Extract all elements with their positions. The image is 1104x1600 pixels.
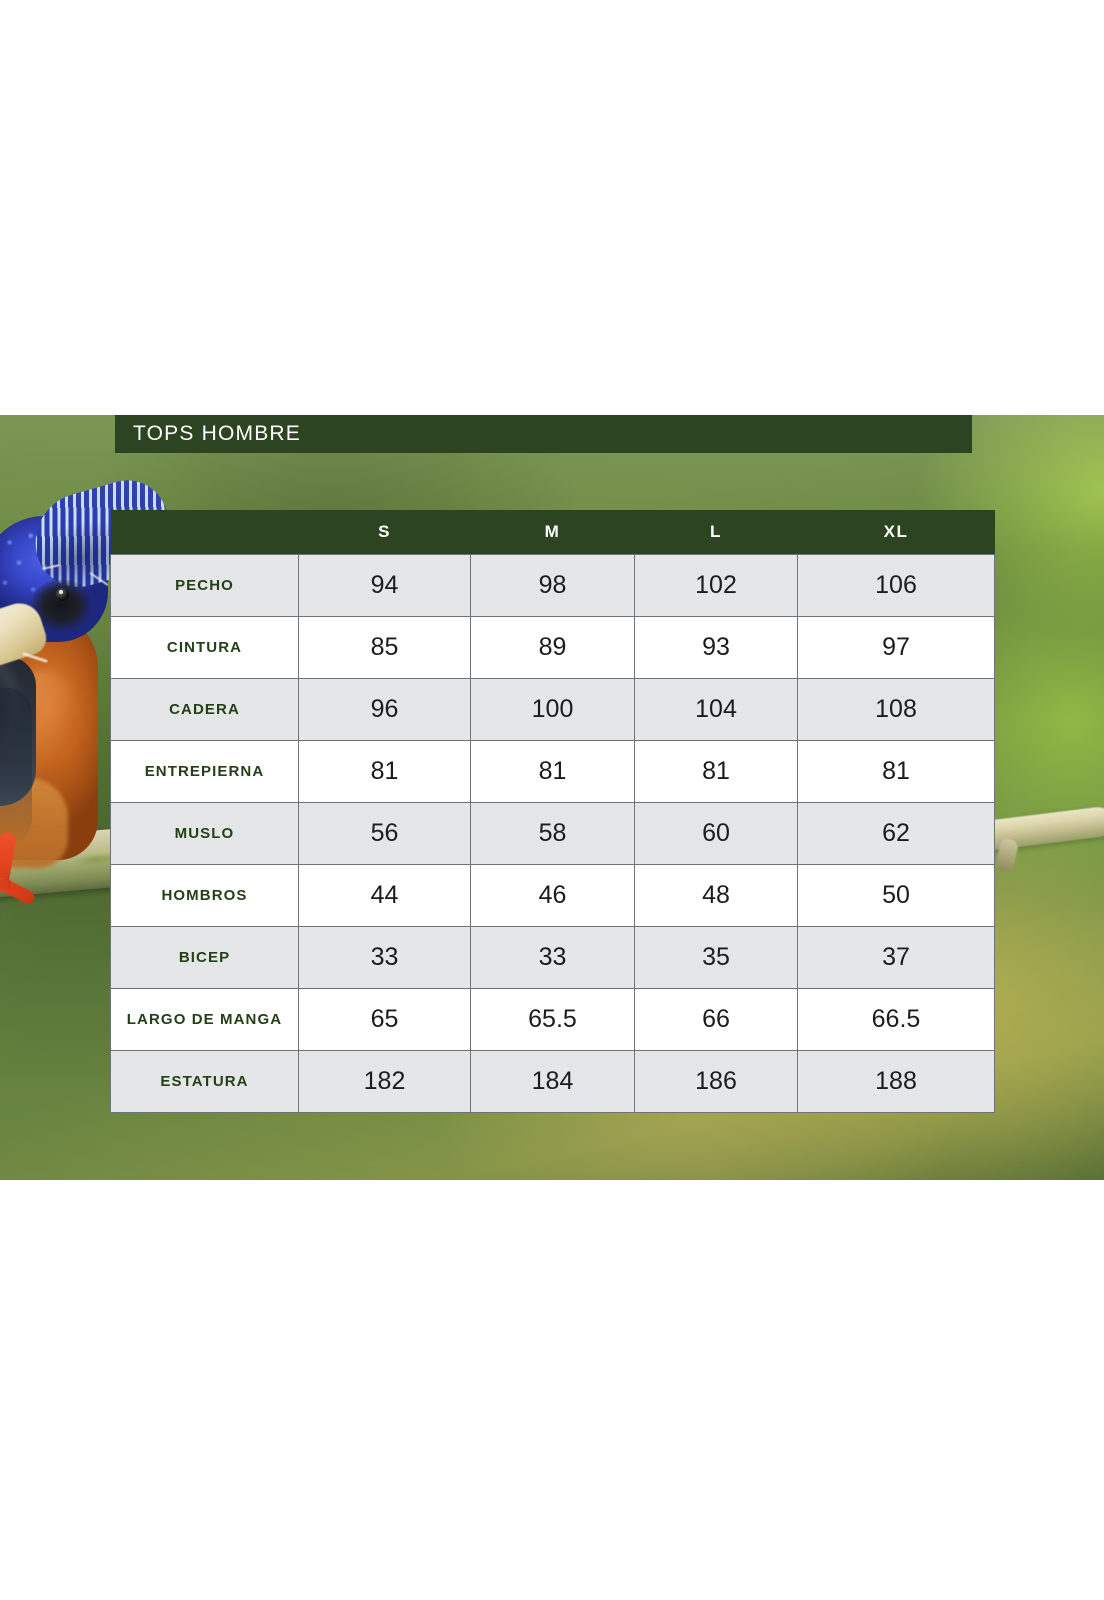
cell-pecho-m: 98 <box>471 554 635 616</box>
cell-estatura-xl: 188 <box>798 1050 995 1112</box>
column-header-l: L <box>635 510 798 554</box>
cell-muslo-l: 60 <box>635 802 798 864</box>
cell-cadera-l: 104 <box>635 678 798 740</box>
cell-cintura-xl: 97 <box>798 616 995 678</box>
row-label-muslo: MUSLO <box>111 802 299 864</box>
cell-muslo-s: 56 <box>299 802 471 864</box>
cell-cadera-m: 100 <box>471 678 635 740</box>
row-label-entrepierna: ENTREPIERNA <box>111 740 299 802</box>
cell-largo-de-manga-l: 66 <box>635 988 798 1050</box>
cell-muslo-xl: 62 <box>798 802 995 864</box>
row-label-hombros: HOMBROS <box>111 864 299 926</box>
column-header-s: S <box>299 510 471 554</box>
cell-entrepierna-l: 81 <box>635 740 798 802</box>
row-label-cadera: CADERA <box>111 678 299 740</box>
row-label-cintura: CINTURA <box>111 616 299 678</box>
cell-estatura-l: 186 <box>635 1050 798 1112</box>
cell-largo-de-manga-s: 65 <box>299 988 471 1050</box>
row-label-largo-de-manga: LARGO DE MANGA <box>111 988 299 1050</box>
table-row: ENTREPIERNA 81 81 81 81 <box>111 740 995 802</box>
cell-muslo-m: 58 <box>471 802 635 864</box>
table-row: CADERA 96 100 104 108 <box>111 678 995 740</box>
cell-estatura-s: 182 <box>299 1050 471 1112</box>
title-bar: TOPS HOMBRE <box>115 415 972 453</box>
cell-hombros-s: 44 <box>299 864 471 926</box>
table-corner-cell <box>111 510 299 554</box>
table-row: HOMBROS 44 46 48 50 <box>111 864 995 926</box>
cell-bicep-l: 35 <box>635 926 798 988</box>
size-chart-table: S M L XL PECHO 94 98 102 106 CINTURA 85 … <box>110 510 995 1113</box>
table-row: ESTATURA 182 184 186 188 <box>111 1050 995 1112</box>
cell-pecho-xl: 106 <box>798 554 995 616</box>
cell-cadera-s: 96 <box>299 678 471 740</box>
cell-entrepierna-m: 81 <box>471 740 635 802</box>
cell-hombros-l: 48 <box>635 864 798 926</box>
cell-pecho-s: 94 <box>299 554 471 616</box>
table-body: PECHO 94 98 102 106 CINTURA 85 89 93 97 … <box>111 554 995 1112</box>
cell-entrepierna-xl: 81 <box>798 740 995 802</box>
table-row: MUSLO 56 58 60 62 <box>111 802 995 864</box>
row-label-bicep: BICEP <box>111 926 299 988</box>
row-label-estatura: ESTATURA <box>111 1050 299 1112</box>
cell-hombros-m: 46 <box>471 864 635 926</box>
cell-bicep-s: 33 <box>299 926 471 988</box>
cell-cintura-l: 93 <box>635 616 798 678</box>
column-header-m: M <box>471 510 635 554</box>
table-row: PECHO 94 98 102 106 <box>111 554 995 616</box>
cell-largo-de-manga-xl: 66.5 <box>798 988 995 1050</box>
page-title: TOPS HOMBRE <box>115 422 301 446</box>
column-header-xl: XL <box>798 510 995 554</box>
table-header: S M L XL <box>111 510 995 554</box>
table-row: BICEP 33 33 35 37 <box>111 926 995 988</box>
cell-cintura-m: 89 <box>471 616 635 678</box>
size-chart-card: TOPS HOMBRE S M L XL PECHO 94 98 102 <box>0 0 1104 1600</box>
cell-estatura-m: 184 <box>471 1050 635 1112</box>
cell-largo-de-manga-m: 65.5 <box>471 988 635 1050</box>
table-row: LARGO DE MANGA 65 65.5 66 66.5 <box>111 988 995 1050</box>
cell-bicep-m: 33 <box>471 926 635 988</box>
table-row: CINTURA 85 89 93 97 <box>111 616 995 678</box>
cell-pecho-l: 102 <box>635 554 798 616</box>
cell-cadera-xl: 108 <box>798 678 995 740</box>
cell-entrepierna-s: 81 <box>299 740 471 802</box>
table-header-row: S M L XL <box>111 510 995 554</box>
row-label-pecho: PECHO <box>111 554 299 616</box>
cell-bicep-xl: 37 <box>798 926 995 988</box>
cell-hombros-xl: 50 <box>798 864 995 926</box>
cell-cintura-s: 85 <box>299 616 471 678</box>
